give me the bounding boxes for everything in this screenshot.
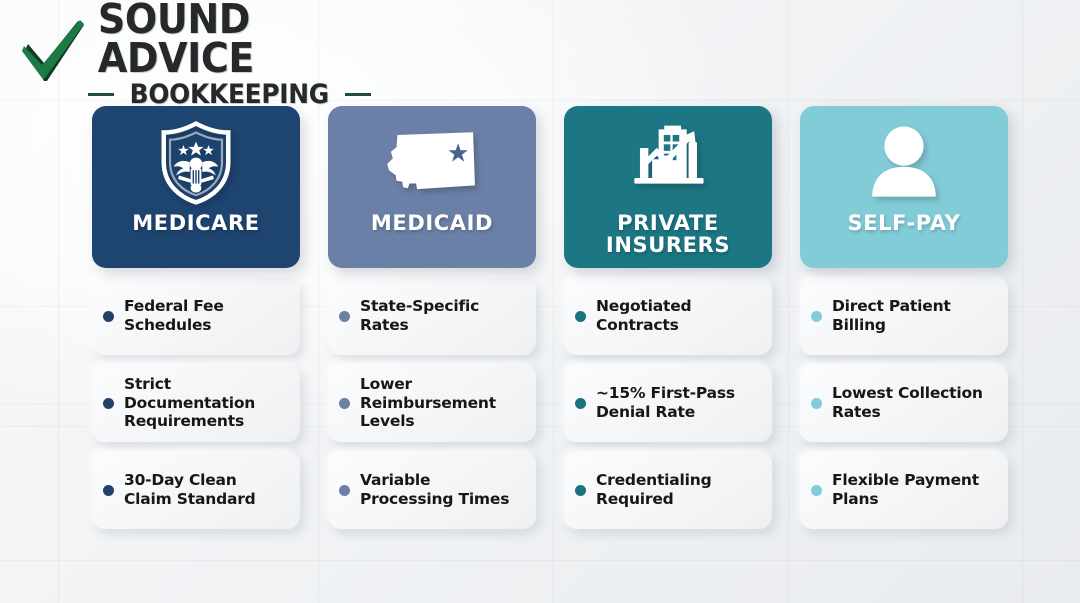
- bullet-icon: [811, 485, 822, 496]
- bullet-icon: [103, 311, 114, 322]
- green-checkmark-icon: [18, 18, 92, 90]
- person-silhouette-icon: [861, 120, 947, 206]
- bullet-icon: [575, 485, 586, 496]
- list-item-label: ~15% First-Pass Denial Rate: [596, 384, 760, 422]
- items-self-pay: Direct Patient Billing Lowest Collection…: [800, 277, 1008, 529]
- items-medicare: Federal Fee Schedules Strict Documentati…: [92, 277, 300, 529]
- bullet-icon: [811, 398, 822, 409]
- column-title-private-insurers: PRIVATE INSURERS: [564, 212, 772, 257]
- bullet-icon: [339, 398, 350, 409]
- montana-state-map-icon: [376, 120, 488, 206]
- list-item[interactable]: Negotiated Contracts: [564, 277, 772, 355]
- shield-eagle-emblem-icon: [155, 120, 237, 206]
- list-item[interactable]: Direct Patient Billing: [800, 277, 1008, 355]
- list-item-label: Variable Processing Times: [360, 471, 524, 509]
- list-item[interactable]: Credentialing Required: [564, 451, 772, 529]
- bullet-icon: [103, 485, 114, 496]
- list-item[interactable]: Strict Documentation Requirements: [92, 364, 300, 442]
- logo-rule-left: [88, 93, 114, 96]
- brand-name-secondary-row: BOOKKEEPING: [88, 81, 371, 108]
- logo-rule-right: [345, 93, 371, 96]
- column-title-self-pay: SELF-PAY: [848, 212, 961, 234]
- column-title-medicare: MEDICARE: [132, 212, 259, 234]
- brand-name-primary: SOUND ADVICE: [98, 0, 361, 78]
- brand-name-secondary: BOOKKEEPING: [130, 81, 329, 108]
- bullet-icon: [575, 398, 586, 409]
- list-item-label: 30-Day Clean Claim Standard: [124, 471, 288, 509]
- list-item[interactable]: ~15% First-Pass Denial Rate: [564, 364, 772, 442]
- column-header-private-insurers[interactable]: PRIVATE INSURERS: [564, 106, 772, 268]
- column-private-insurers: PRIVATE INSURERS Negotiated Contracts ~1…: [564, 106, 772, 556]
- column-self-pay: SELF-PAY Direct Patient Billing Lowest C…: [800, 106, 1008, 556]
- list-item[interactable]: Lowest Collection Rates: [800, 364, 1008, 442]
- list-item[interactable]: Lower Reimbursement Levels: [328, 364, 536, 442]
- infographic-canvas: SOUND ADVICE BOOKKEEPING: [0, 0, 1080, 603]
- list-item[interactable]: Federal Fee Schedules: [92, 277, 300, 355]
- list-item-label: Flexible Payment Plans: [832, 471, 996, 509]
- list-item-label: Lowest Collection Rates: [832, 384, 996, 422]
- items-medicaid: State-Specific Rates Lower Reimbursement…: [328, 277, 536, 529]
- bullet-icon: [339, 311, 350, 322]
- list-item[interactable]: Flexible Payment Plans: [800, 451, 1008, 529]
- list-item-label: Direct Patient Billing: [832, 297, 996, 335]
- column-header-self-pay[interactable]: SELF-PAY: [800, 106, 1008, 268]
- list-item-label: Federal Fee Schedules: [124, 297, 288, 335]
- column-header-medicare[interactable]: MEDICARE: [92, 106, 300, 268]
- list-item-label: Strict Documentation Requirements: [124, 375, 288, 432]
- column-medicaid: MEDICAID State-Specific Rates Lower Reim…: [328, 106, 536, 556]
- bullet-icon: [811, 311, 822, 322]
- column-title-medicaid: MEDICAID: [371, 212, 493, 234]
- bullet-icon: [575, 311, 586, 322]
- list-item-label: Negotiated Contracts: [596, 297, 760, 335]
- list-item-label: Credentialing Required: [596, 471, 760, 509]
- bullet-icon: [339, 485, 350, 496]
- column-medicare: MEDICARE Federal Fee Schedules Strict Do…: [92, 106, 300, 556]
- list-item[interactable]: 30-Day Clean Claim Standard: [92, 451, 300, 529]
- building-growth-chart-icon: [621, 120, 715, 206]
- items-private-insurers: Negotiated Contracts ~15% First-Pass Den…: [564, 277, 772, 529]
- brand-wordmark: SOUND ADVICE BOOKKEEPING: [88, 0, 371, 108]
- list-item[interactable]: Variable Processing Times: [328, 451, 536, 529]
- list-item[interactable]: State-Specific Rates: [328, 277, 536, 355]
- bullet-icon: [103, 398, 114, 409]
- brand-logo: SOUND ADVICE BOOKKEEPING: [18, 10, 348, 98]
- payer-comparison-columns: MEDICARE Federal Fee Schedules Strict Do…: [92, 106, 1020, 556]
- list-item-label: State-Specific Rates: [360, 297, 524, 335]
- column-header-medicaid[interactable]: MEDICAID: [328, 106, 536, 268]
- list-item-label: Lower Reimbursement Levels: [360, 375, 524, 432]
